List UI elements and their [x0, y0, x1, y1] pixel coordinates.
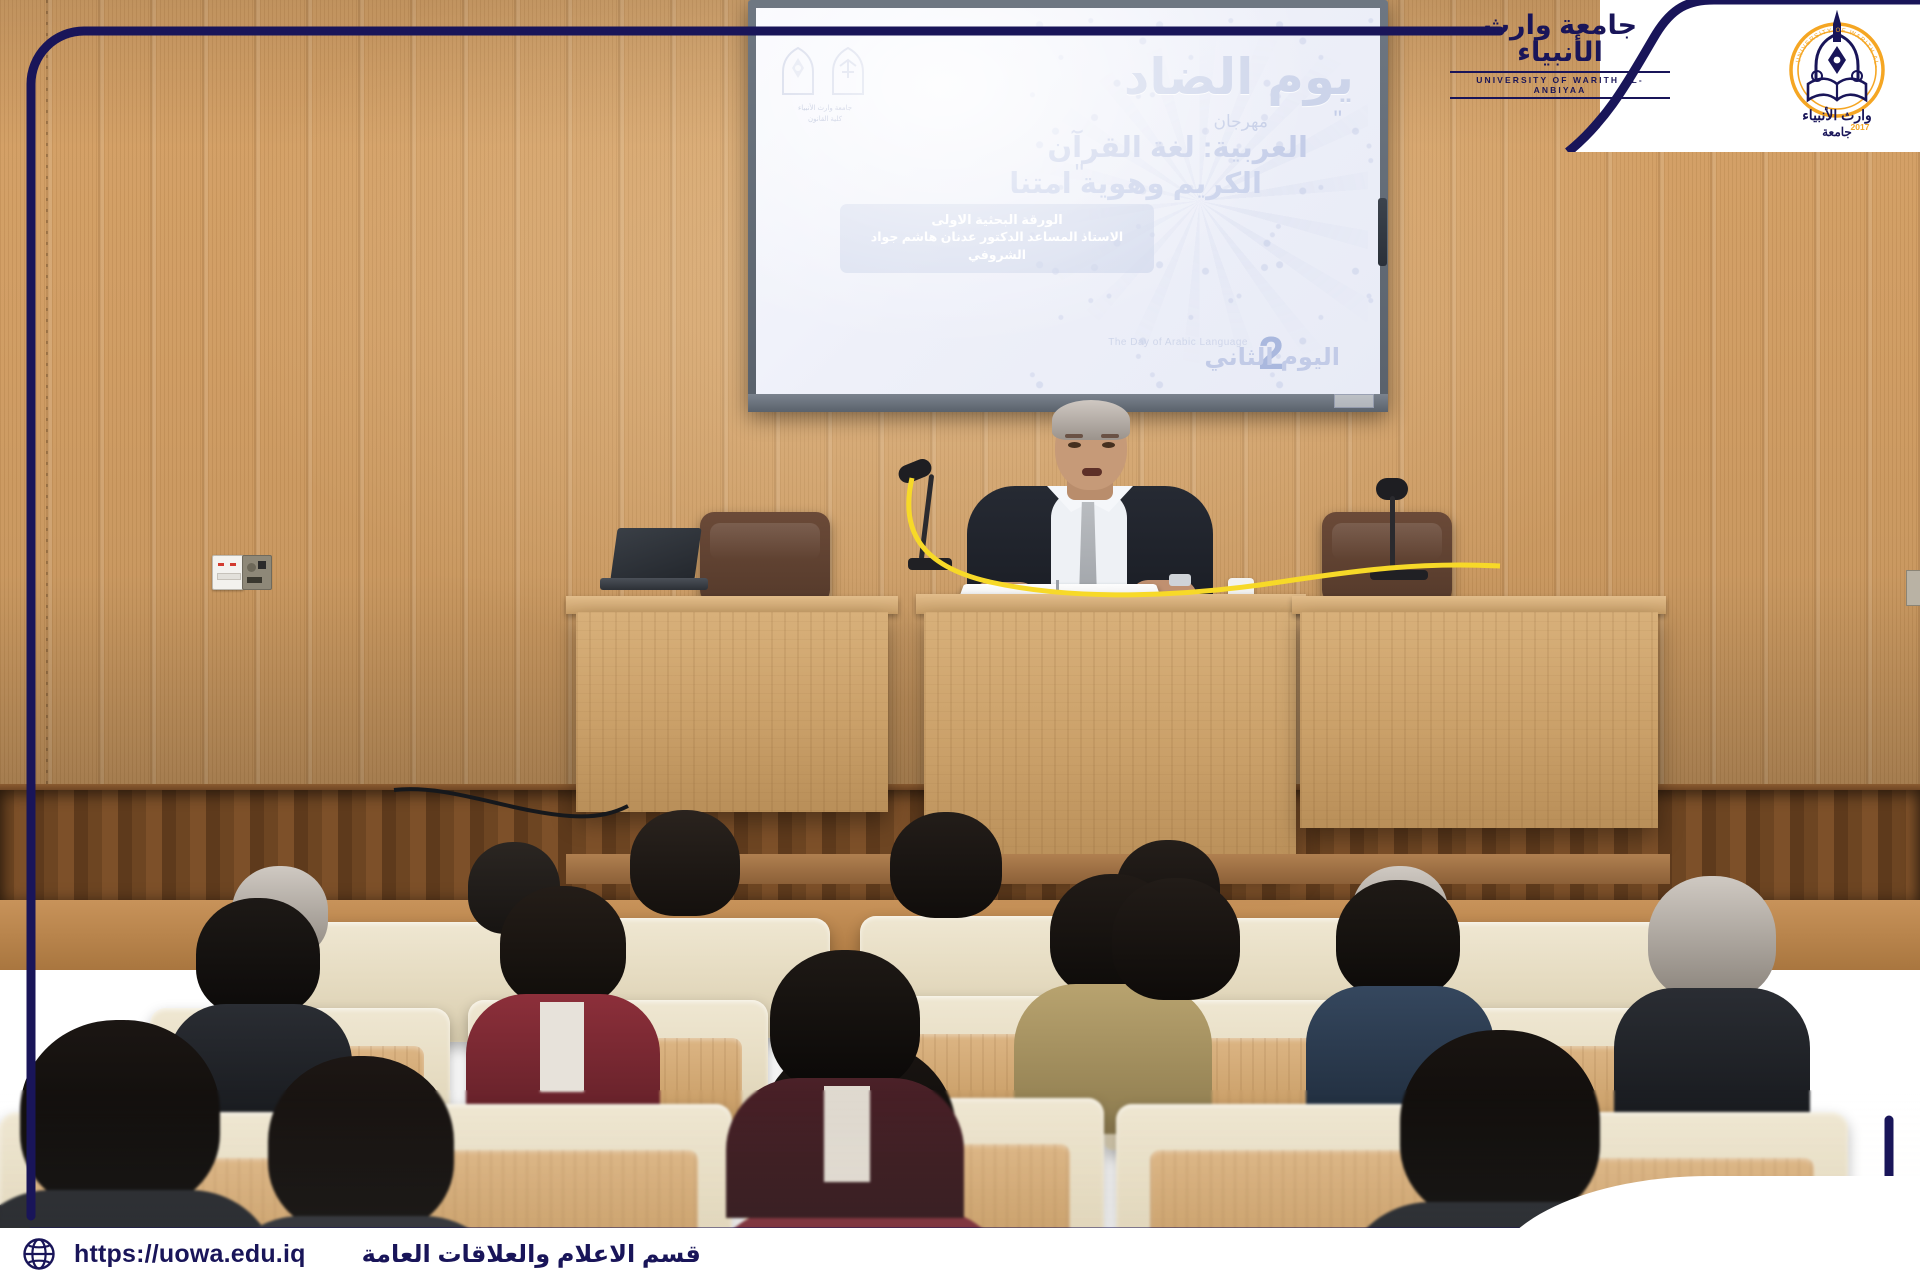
slide-quote-open: ": [1333, 106, 1342, 134]
slide-surface: جامعة وارث الأنبياء كلية القانون يوم الض…: [756, 8, 1380, 394]
svg-text:UNIVERSITY OF WARITH AL-ANBIYA: UNIVERSITY OF WARITH AL-ANBIYAA: [1772, 8, 1880, 69]
department-label: قسم الاعلام والعلاقات العامة: [362, 1240, 701, 1269]
screen-stylus: [1378, 198, 1387, 266]
slide-subtitle-line2: الكريم وهوية امتنا: [1009, 166, 1262, 201]
svg-text:2017: 2017: [1851, 122, 1870, 132]
wall-socket-right: [1906, 570, 1920, 606]
projection-screen: جامعة وارث الأنبياء كلية القانون يوم الض…: [748, 0, 1388, 412]
desk-center-top: [916, 594, 1306, 614]
speaker-eye-l: [1068, 442, 1081, 448]
slide-org-line2: كلية القانون: [770, 115, 880, 126]
slide-college-crests: [778, 46, 868, 98]
slide-paper-label: الورقة البحثية الاولى: [852, 211, 1142, 229]
wordmark-english: UNIVERSITY OF WARITH AL-ANBIYAA: [1450, 71, 1670, 99]
globe-icon: [22, 1237, 56, 1271]
slide-title: يوم الضاد: [1124, 48, 1354, 106]
slide-subtitle-line1: العربية: لغة القرآن: [1047, 130, 1308, 165]
website-url[interactable]: https://uowa.edu.iq: [74, 1240, 306, 1269]
desk-left: [576, 612, 888, 812]
wall-socket: [212, 555, 270, 588]
slide-org-lines: جامعة وارث الأنبياء كلية القانون: [770, 104, 880, 125]
university-seal-icon: وارث الأنبياء جامعة 2017 UNIVERSITY OF W…: [1772, 8, 1902, 144]
university-wordmark: جامعة وارث الأنبياء UNIVERSITY OF WARITH…: [1450, 12, 1670, 99]
laptop: [600, 528, 708, 598]
chair-left: [700, 512, 830, 604]
desk-right-grain: [1300, 612, 1658, 828]
speaker-mouth: [1082, 468, 1102, 476]
crest-icon-2: [828, 46, 868, 98]
screenshot-root: جامعة وارث الأنبياء كلية القانون يوم الض…: [0, 0, 1920, 1280]
slide-day-label: اليوم الثاني: [1204, 343, 1340, 372]
svg-text:جامعة: جامعة: [1822, 125, 1852, 139]
crest-icon-1: [778, 46, 818, 98]
desk-right: [1300, 612, 1658, 828]
slide-org-line1: جامعة وارث الأنبياء: [770, 104, 880, 115]
slide-speaker-name: الاستاذ المساعد الدكتور عدنان هاشم جواد …: [852, 229, 1142, 264]
screen-logo-badge: [1334, 394, 1374, 408]
slide-paper-box: الورقة البحثية الاولى الاستاذ المساعد ال…: [840, 204, 1154, 273]
microphone-left: [898, 462, 970, 588]
footer-content: https://uowa.edu.iq قسم الاعلام والعلاقا…: [0, 1228, 701, 1280]
audience-head-far-3: [630, 810, 740, 916]
speaker-watch: [1169, 574, 1191, 586]
desk-left-grain: [576, 612, 888, 812]
speaker-eye-r: [1102, 442, 1115, 448]
wordmark-arabic: جامعة وارث الأنبياء: [1450, 12, 1670, 66]
speaker-brow-l: [1065, 434, 1083, 438]
slide-kicker: مهرجان: [1214, 112, 1269, 132]
header-brand-block: جامعة وارث الأنبياء UNIVERSITY OF WARITH…: [1450, 0, 1920, 152]
footer-curve-stroke: [1490, 1176, 1920, 1280]
microphone-right: [1370, 478, 1442, 598]
audience-head-far-4: [890, 812, 1002, 918]
speaker-brow-r: [1101, 434, 1119, 438]
